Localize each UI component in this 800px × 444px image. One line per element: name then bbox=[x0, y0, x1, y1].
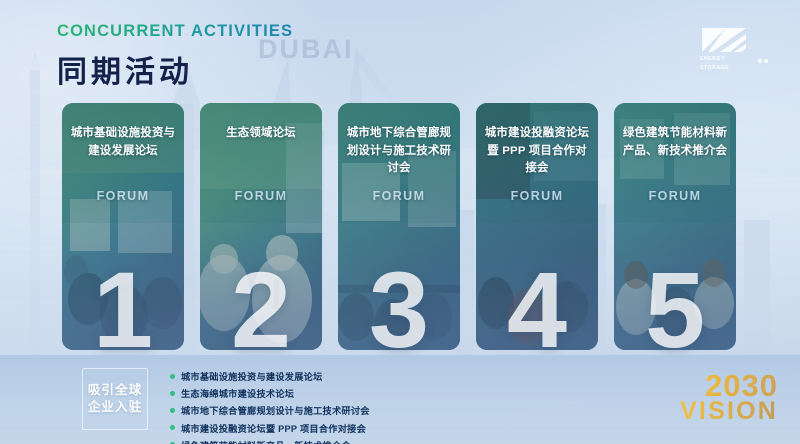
card-title: 绿色建筑节能材料新产品、新技术推介会 bbox=[621, 125, 729, 160]
list-item[interactable]: 绿色建筑节能材料新产品、新技术推介会 bbox=[170, 438, 370, 444]
card-forum-label: FORUM bbox=[476, 189, 598, 203]
bullet-icon bbox=[170, 408, 175, 413]
activity-card[interactable]: 城市建设投融资论坛暨 PPP 项目合作对接会 FORUM 4 bbox=[476, 103, 598, 350]
vision-2030-logo: 2030 VISION bbox=[680, 371, 778, 424]
agenda-item-label: 城市地下综合管廊规划设计与施工技术研讨会 bbox=[181, 403, 370, 417]
bullet-icon bbox=[170, 391, 175, 396]
agenda-item-label: 生态海绵城市建设技术论坛 bbox=[181, 386, 294, 400]
eyebrow-title: CONCURRENT ACTIVITIES bbox=[57, 22, 293, 41]
energy-storage-icon bbox=[700, 26, 750, 54]
activity-card-list: 城市基础设施投资与建设发展论坛 FORUM 1 bbox=[62, 103, 738, 350]
card-forum-label: FORUM bbox=[614, 189, 736, 203]
list-item[interactable]: 生态海绵城市建设技术论坛 bbox=[170, 386, 370, 400]
agenda-list: 城市基础设施投资与建设发展论坛 生态海绵城市建设技术论坛 城市地下综合管廊规划设… bbox=[170, 369, 370, 444]
activity-card[interactable]: 城市地下综合管廊规划设计与施工技术研讨会 FORUM 3 bbox=[338, 103, 460, 350]
brand-dots-icon bbox=[758, 59, 768, 63]
slide-header: CONCURRENT ACTIVITIES 同期活动 bbox=[57, 22, 293, 91]
badge-line-2: 企业入驻 bbox=[88, 401, 142, 415]
energy-storage-logo: ENERGY STORAGE bbox=[700, 26, 774, 72]
brand-name-line2: STORAGE bbox=[700, 65, 774, 72]
agenda-item-label: 城市建设投融资论坛暨 PPP 项目合作对接会 bbox=[181, 421, 366, 435]
activity-card[interactable]: 生态领域论坛 FORUM 2 bbox=[200, 103, 322, 350]
vision-year: 2030 bbox=[680, 371, 778, 400]
card-title: 城市地下综合管廊规划设计与施工技术研讨会 bbox=[345, 125, 453, 178]
list-item[interactable]: 城市基础设施投资与建设发展论坛 bbox=[170, 369, 370, 383]
page-title: 同期活动 bbox=[57, 47, 293, 91]
agenda-item-label: 绿色建筑节能材料新产品、新技术推介会 bbox=[181, 438, 351, 444]
bottom-summary-bar: 吸引全球 企业入驻 城市基础设施投资与建设发展论坛 生态海绵城市建设技术论坛 城… bbox=[0, 355, 800, 444]
card-title: 城市建设投融资论坛暨 PPP 项目合作对接会 bbox=[483, 125, 591, 178]
card-forum-label: FORUM bbox=[200, 189, 322, 203]
list-item[interactable]: 城市建设投融资论坛暨 PPP 项目合作对接会 bbox=[170, 421, 370, 435]
bullet-icon bbox=[170, 425, 175, 430]
card-title: 城市基础设施投资与建设发展论坛 bbox=[69, 125, 177, 160]
card-title: 生态领域论坛 bbox=[207, 125, 315, 143]
card-forum-label: FORUM bbox=[62, 189, 184, 203]
badge-line-1: 吸引全球 bbox=[88, 384, 142, 398]
activity-card[interactable]: 绿色建筑节能材料新产品、新技术推介会 FORUM 5 bbox=[614, 103, 736, 350]
bullet-icon bbox=[170, 374, 175, 379]
activity-card[interactable]: 城市基础设施投资与建设发展论坛 FORUM 1 bbox=[62, 103, 184, 350]
card-forum-label: FORUM bbox=[338, 189, 460, 203]
attract-global-enterprises-badge: 吸引全球 企业入驻 bbox=[82, 368, 148, 430]
agenda-item-label: 城市基础设施投资与建设发展论坛 bbox=[181, 369, 323, 383]
vision-word: VISION bbox=[680, 400, 778, 424]
list-item[interactable]: 城市地下综合管廊规划设计与施工技术研讨会 bbox=[170, 403, 370, 417]
slide-canvas: DUBAI CONCURRENT ACTIVITIES 同期活动 ENERGY … bbox=[0, 0, 800, 444]
